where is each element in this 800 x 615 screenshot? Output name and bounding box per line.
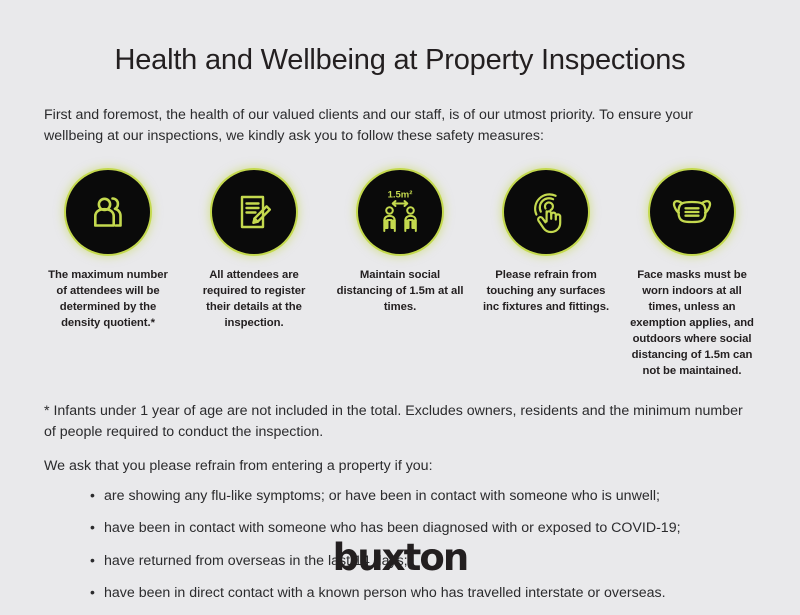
two-people-icon [66,170,150,254]
list-item: are showing any flu-like symptoms; or ha… [90,486,756,518]
measure-item-distancing: 1.5m² Maintain social distancing of 1.5m… [336,170,464,315]
social-distancing-icon: 1.5m² [358,170,442,254]
measure-caption: Maintain social distancing of 1.5m at al… [336,267,464,315]
measure-caption: The maximum number of attendees will be … [44,267,172,331]
safety-measures-row: The maximum number of attendees will be … [44,148,756,379]
document-pencil-icon [212,170,296,254]
refrain-lead-text: We ask that you please refrain from ente… [44,444,756,477]
measure-item-no-touching: Please refrain from touching any surface… [482,170,610,315]
intro-paragraph: First and foremost, the health of our va… [44,78,734,148]
distance-label: 1.5m² [388,189,413,200]
measure-item-attendees: The maximum number of attendees will be … [44,170,172,331]
measure-item-register: All attendees are required to register t… [190,170,318,331]
brand-logo-area: buxton [0,539,800,576]
page-title: Health and Wellbeing at Property Inspect… [44,0,756,78]
measure-caption: Please refrain from touching any surface… [482,267,610,315]
face-mask-icon [650,170,734,254]
poster: Health and Wellbeing at Property Inspect… [0,0,800,600]
measure-caption: All attendees are required to register t… [190,267,318,331]
footnote-text: * Infants under 1 year of age are not in… [44,379,744,444]
list-item: have been in direct contact with a known… [90,583,756,615]
tap-hand-icon [504,170,588,254]
buxton-logo: buxton [333,539,468,576]
measure-caption: Face masks must be worn indoors at all t… [628,267,756,379]
measure-item-face-mask: Face masks must be worn indoors at all t… [628,170,756,379]
